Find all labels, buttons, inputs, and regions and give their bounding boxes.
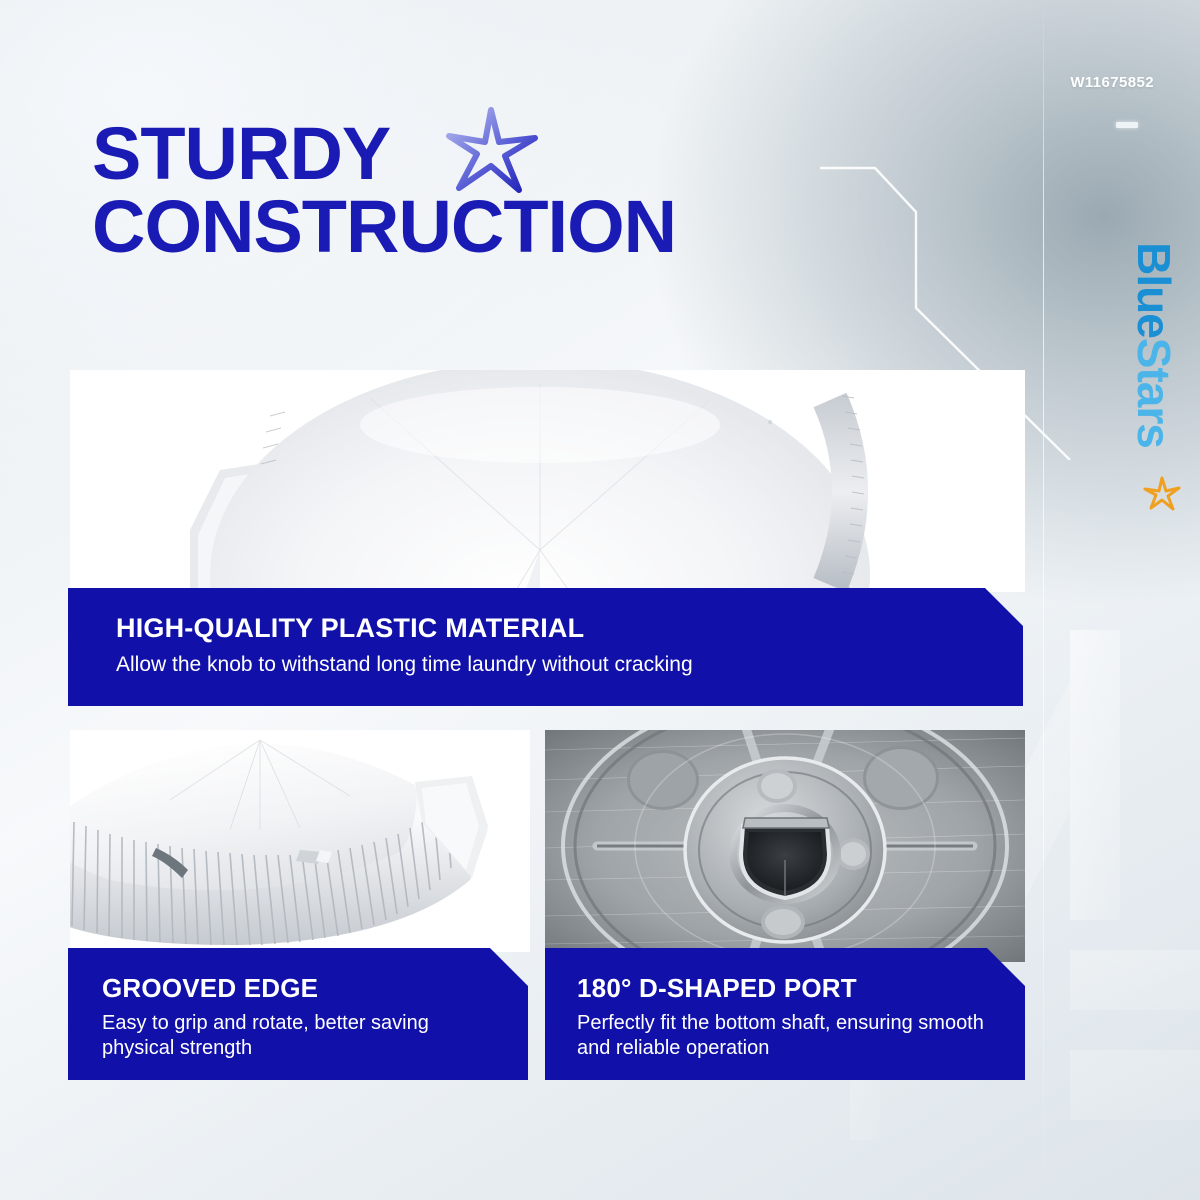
title-line-1: STURDY xyxy=(92,112,390,195)
star-outline-icon xyxy=(435,96,545,206)
feature-heading: 180° D-SHAPED PORT xyxy=(577,974,1025,1003)
bluestars-wordmark: BlueStars xyxy=(1127,242,1181,448)
photo-d-shaped-port xyxy=(545,730,1025,962)
knob-top-chrome-photo xyxy=(70,370,1025,592)
feature-bar-grooved-edge: GROOVED EDGE Easy to grip and rotate, be… xyxy=(68,948,528,1080)
part-number: W11675852 xyxy=(1070,74,1154,91)
photo-knob-top xyxy=(70,370,1025,592)
brand-name-stars: Stars xyxy=(1128,338,1180,448)
knob-underside-d-port-photo xyxy=(545,730,1025,962)
feature-heading: GROOVED EDGE xyxy=(102,974,528,1003)
feature-body: Perfectly fit the bottom shaft, ensuring… xyxy=(577,1011,989,1062)
orange-star-icon xyxy=(1142,474,1182,514)
feature-body: Allow the knob to withstand long time la… xyxy=(116,652,950,679)
bluestars-logo: BlueStars xyxy=(1122,180,1186,510)
dash-mark-icon xyxy=(1116,122,1138,128)
feature-bar-plastic-material: HIGH-QUALITY PLASTIC MATERIAL Allow the … xyxy=(68,588,1023,706)
photo-grooved-edge xyxy=(70,730,530,952)
feature-bar-d-shaped-port: 180° D-SHAPED PORT Perfectly fit the bot… xyxy=(545,948,1025,1080)
feature-heading: HIGH-QUALITY PLASTIC MATERIAL xyxy=(116,614,1023,644)
feature-body: Easy to grip and rotate, better saving p… xyxy=(102,1011,494,1062)
knob-grooved-edge-photo xyxy=(70,730,530,952)
right-vertical-divider xyxy=(1043,0,1044,1200)
infographic-page: STURDY CONSTRUCTION W11675852 BlueStars xyxy=(0,0,1200,1200)
brand-name-blue: Blue xyxy=(1128,242,1180,338)
